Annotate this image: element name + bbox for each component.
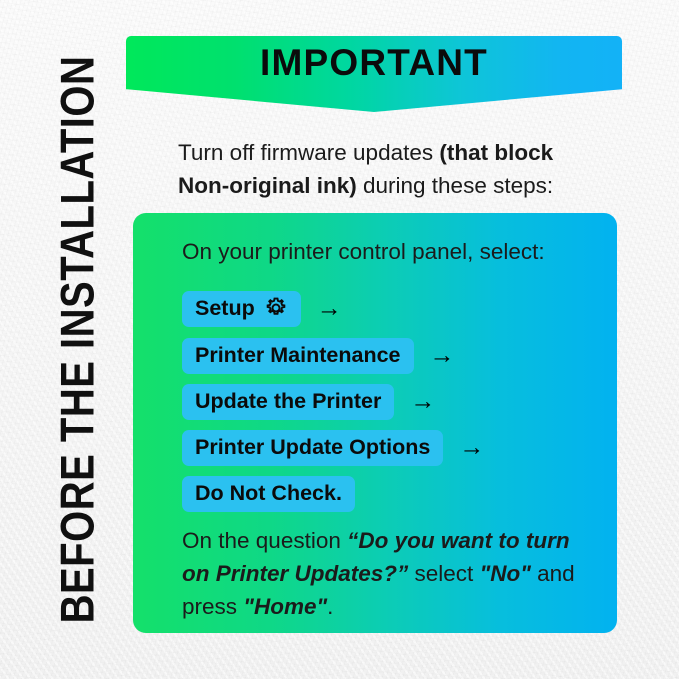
important-banner: IMPORTANT (126, 36, 622, 112)
intro-paragraph: Turn off firmware updates (that block No… (178, 136, 608, 202)
vertical-side-title: BEFORE THE INSTALLATION (18, 0, 138, 679)
closing-part-2: select (408, 561, 479, 586)
step-pill-label: Printer Maintenance (195, 343, 401, 368)
steps-panel: On your printer control panel, select: S… (133, 213, 617, 633)
main-content-column: IMPORTANT Turn off firmware updates (tha… (126, 0, 626, 679)
arrow-right-icon: → (317, 296, 342, 321)
step-pill-setup[interactable]: Setup (182, 291, 301, 327)
step-pill-do-not-check[interactable]: Do Not Check. (182, 476, 355, 512)
closing-quote-home: "Home" (243, 594, 327, 619)
step-row: Update the Printer → (182, 384, 435, 420)
closing-paragraph: On the question “Do you want to turn on … (182, 524, 587, 623)
step-row: Setup → (182, 291, 342, 327)
arrow-right-icon: → (410, 389, 435, 414)
arrow-right-icon: → (430, 343, 455, 368)
step-row: Do Not Check. (182, 476, 355, 512)
side-title-text: BEFORE THE INSTALLATION (51, 56, 104, 624)
step-pill-label: Update the Printer (195, 389, 381, 414)
closing-quote-no: "No" (480, 561, 531, 586)
step-pill-printer-maintenance[interactable]: Printer Maintenance (182, 338, 414, 374)
step-pill-label: Setup (195, 296, 255, 321)
step-pill-label: Do Not Check. (195, 481, 342, 506)
step-row: Printer Update Options → (182, 430, 484, 466)
step-pill-label: Printer Update Options (195, 435, 430, 460)
intro-part-2: during these steps: (357, 173, 553, 198)
gear-icon (264, 296, 288, 320)
intro-part-1: Turn off firmware updates (178, 140, 439, 165)
step-pill-update-the-printer[interactable]: Update the Printer (182, 384, 394, 420)
important-banner-label: IMPORTANT (126, 42, 622, 84)
closing-part-1: On the question (182, 528, 347, 553)
closing-part-4: . (327, 594, 333, 619)
arrow-right-icon: → (459, 435, 484, 460)
step-row: Printer Maintenance → (182, 338, 455, 374)
panel-intro-text: On your printer control panel, select: (182, 239, 545, 265)
step-pill-printer-update-options[interactable]: Printer Update Options (182, 430, 443, 466)
